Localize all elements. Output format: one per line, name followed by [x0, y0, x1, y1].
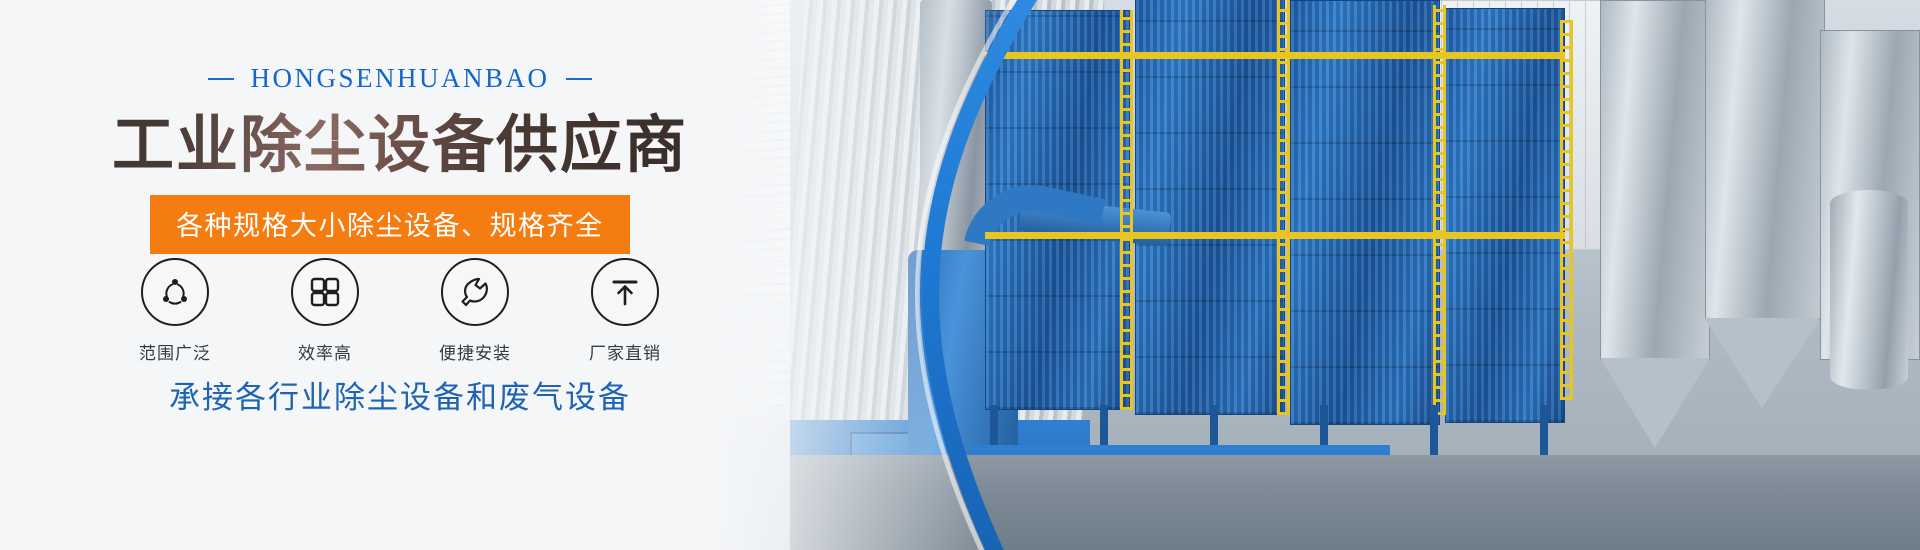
silo-tower-2 — [1705, 0, 1825, 320]
grid-four-squares-icon — [291, 258, 359, 326]
baghouse-panel-lines — [1136, 0, 1284, 414]
tagline: 承接各行业除尘设备和废气设备 — [0, 372, 800, 417]
yellow-ladder-2 — [1277, 0, 1290, 415]
silo-tower-1 — [1600, 0, 1710, 360]
scope-network-icon — [141, 258, 209, 326]
feature-item-4[interactable]: 厂家直销 — [581, 258, 669, 364]
feature-item-3[interactable]: 便捷安装 — [431, 258, 519, 364]
page-title: 工业除尘设备供应商 — [0, 110, 800, 181]
eyebrow-dash-left — [208, 78, 234, 80]
baghouse-panel-lines — [1446, 9, 1564, 422]
brand-pinyin: HONGSENHUANBAO — [250, 63, 549, 94]
subtitle-ribbon: 各种规格大小除尘设备、规格齐全 — [150, 195, 630, 254]
eyebrow-dash-right — [566, 78, 592, 80]
feature-list: 范围广泛 效率高 — [0, 258, 800, 364]
baghouse-unit-4 — [1445, 8, 1565, 423]
yellow-railing-lower — [985, 232, 1565, 239]
yellow-ladder-3 — [1433, 5, 1446, 415]
photo-ground — [790, 455, 1920, 550]
feature-item-1[interactable]: 范围广泛 — [131, 258, 219, 364]
feature-item-2[interactable]: 效率高 — [281, 258, 369, 364]
yellow-ladder-4 — [1560, 20, 1573, 400]
silo-cone-2 — [1704, 318, 1820, 408]
hero-banner: HONGSENHUANBAO 工业除尘设备供应商 各种规格大小除尘设备、规格齐全 — [0, 0, 1920, 550]
horizontal-cylinder-tank — [1830, 190, 1908, 390]
silo-cone-1 — [1600, 358, 1710, 448]
baghouse-unit-3 — [1290, 0, 1440, 425]
yellow-ladder-1 — [1120, 10, 1133, 410]
up-arrow-icon — [591, 258, 659, 326]
eyebrow-row: HONGSENHUANBAO — [0, 63, 800, 94]
wrench-icon — [441, 258, 509, 326]
baghouse-unit-2 — [1135, 0, 1285, 415]
feature-label: 范围广泛 — [131, 339, 219, 364]
yellow-railing-upper — [985, 52, 1565, 59]
banner-content: HONGSENHUANBAO 工业除尘设备供应商 各种规格大小除尘设备、规格齐全 — [0, 0, 860, 550]
baghouse-panel-lines — [1291, 1, 1439, 424]
feature-label: 厂家直销 — [581, 339, 669, 364]
feature-label: 便捷安装 — [431, 339, 519, 364]
feature-label: 效率高 — [281, 339, 369, 364]
industrial-equipment-photo — [790, 0, 1920, 550]
